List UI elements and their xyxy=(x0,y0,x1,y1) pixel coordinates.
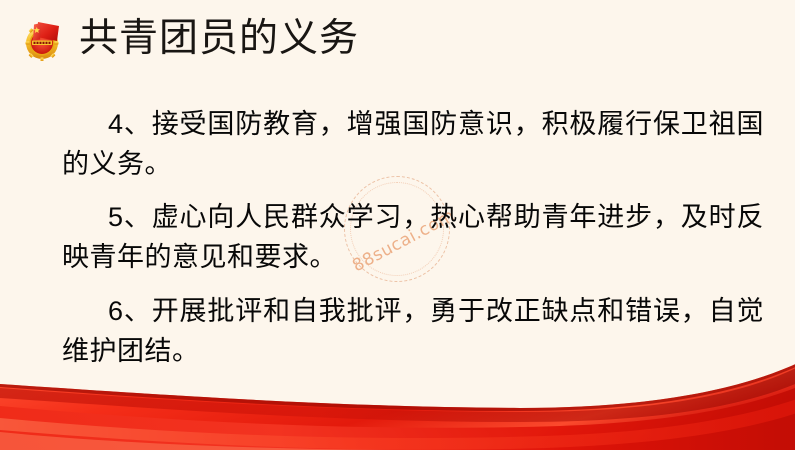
slide-canvas: 共青团员的义务 88sucai.com 4、接受国防教育，增强国防意识，积极履行… xyxy=(0,0,800,450)
content-paragraph-5: 5、虚心向人民群众学习，热心帮助青年进步，及时反映青年的意见和要求。 xyxy=(0,197,800,277)
bottom-red-ribbon-decoration xyxy=(0,360,800,450)
slide-body: 4、接受国防教育，增强国防意识，积极履行保卫祖国的义务。 5、虚心向人民群众学习… xyxy=(0,104,800,371)
communist-youth-league-emblem-icon xyxy=(19,17,65,61)
content-paragraph-6: 6、开展批评和自我批评，勇于改正缺点和错误，自觉维护团结。 xyxy=(0,291,800,371)
page-title: 共青团员的义务 xyxy=(79,16,359,62)
content-paragraph-4: 4、接受国防教育，增强国防意识，积极履行保卫祖国的义务。 xyxy=(0,104,800,184)
slide-right-edge-strip xyxy=(795,0,800,450)
slide-header: 共青团员的义务 xyxy=(0,0,800,78)
